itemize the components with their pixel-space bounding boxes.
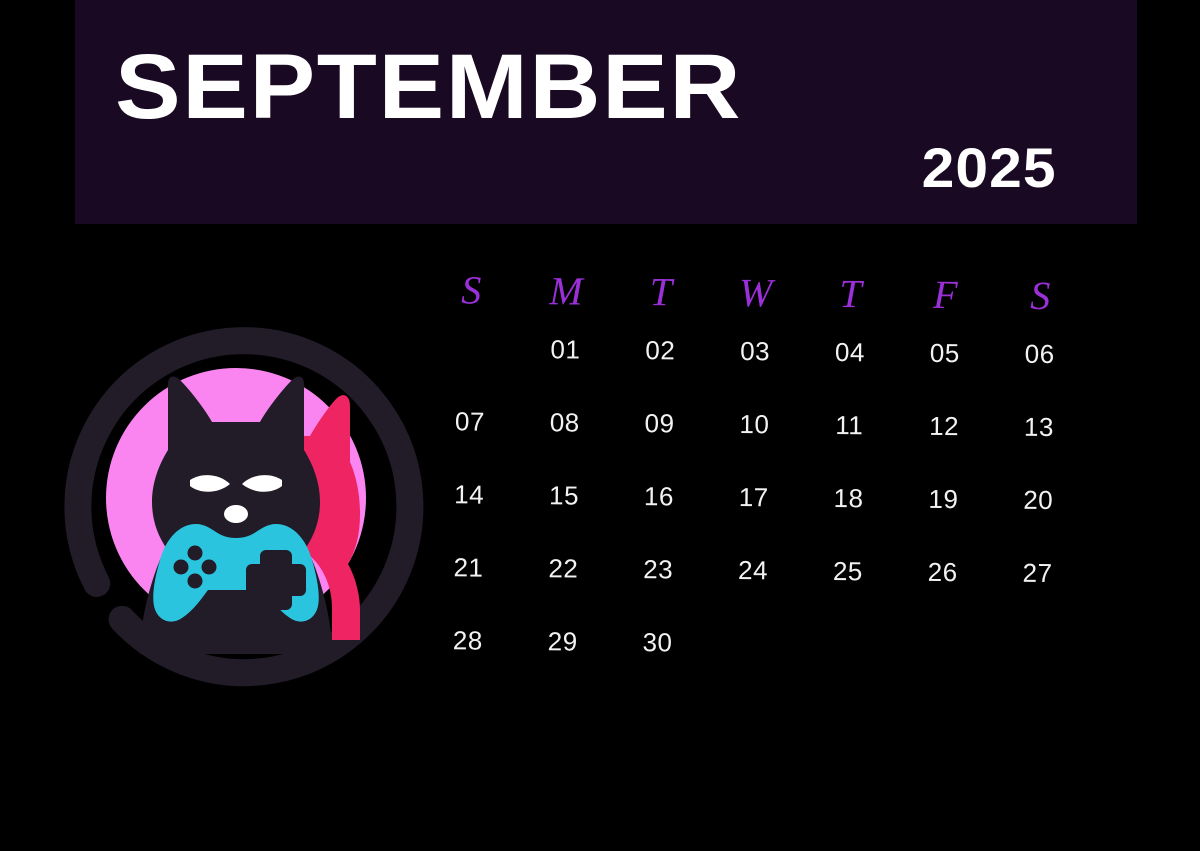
gamer-cat-illustration	[44, 302, 428, 694]
date-cell[interactable]: 26	[895, 552, 991, 626]
date-cell[interactable]	[989, 625, 1085, 699]
date-cell[interactable]: 08	[517, 402, 613, 476]
gamepad-dot-bottom	[188, 574, 203, 589]
date-cell[interactable]: 21	[421, 547, 517, 621]
date-cell[interactable]: 02	[612, 330, 708, 404]
weekday-monday: M	[518, 267, 613, 330]
date-cell[interactable]: 28	[420, 620, 516, 694]
date-cell[interactable]	[799, 624, 895, 698]
date-cell[interactable]: 05	[897, 333, 993, 407]
weekday-thursday: T	[803, 270, 898, 333]
month-title: SEPTEMBER	[115, 41, 742, 133]
date-cell[interactable]: 19	[895, 479, 991, 553]
weekday-header-row: S M T W T F S	[423, 266, 1088, 334]
date-cell[interactable]: 27	[990, 552, 1086, 626]
calendar-page: SEPTEMBER 2025	[0, 0, 1200, 851]
date-cell[interactable]	[894, 625, 990, 699]
date-cell[interactable]: 20	[990, 479, 1086, 553]
date-cell[interactable]: 24	[705, 550, 801, 624]
gamepad-dot-left	[174, 560, 189, 575]
date-cell[interactable]: 22	[515, 548, 611, 622]
week-row-4: 21 22 23 24 25 26 27	[421, 547, 1086, 626]
weekday-saturday: S	[992, 271, 1087, 334]
date-cell[interactable]	[704, 623, 800, 697]
weekday-tuesday: T	[613, 268, 708, 331]
date-cell[interactable]	[423, 328, 519, 402]
date-cell[interactable]: 13	[991, 406, 1087, 480]
weekday-sunday: S	[423, 266, 518, 329]
date-cell[interactable]: 15	[516, 475, 612, 549]
date-cell[interactable]: 03	[707, 331, 803, 405]
date-cell[interactable]: 23	[610, 549, 706, 623]
date-cell[interactable]: 04	[802, 332, 898, 406]
date-cell[interactable]: 17	[706, 477, 802, 551]
weekday-wednesday: W	[708, 269, 803, 332]
week-row-5: 28 29 30	[420, 620, 1085, 699]
weekday-friday: F	[898, 271, 993, 334]
week-row-2: 07 08 09 10 11 12 13	[422, 401, 1087, 480]
date-cell[interactable]: 18	[801, 478, 897, 552]
year-title: 2025	[922, 140, 1057, 196]
header-panel: SEPTEMBER 2025	[75, 0, 1137, 224]
week-row-3: 14 15 16 17 18 19 20	[421, 474, 1086, 553]
date-cell[interactable]: 14	[421, 474, 517, 548]
date-cell[interactable]: 10	[707, 404, 803, 478]
date-cell[interactable]: 16	[611, 476, 707, 550]
date-cell[interactable]: 06	[992, 333, 1088, 407]
date-cell[interactable]: 01	[518, 329, 614, 403]
date-cell[interactable]: 25	[800, 551, 896, 625]
date-cell[interactable]: 11	[801, 405, 897, 479]
calendar-grid: S M T W T F S 01 02 03 04 05 06 07 08 09…	[420, 266, 1088, 722]
gamepad-dot-top	[188, 546, 203, 561]
gamepad-dot-right	[202, 560, 217, 575]
date-cell[interactable]: 07	[422, 401, 518, 475]
date-cell[interactable]: 29	[515, 621, 611, 695]
date-cell[interactable]: 12	[896, 406, 992, 480]
week-row-1: 01 02 03 04 05 06	[423, 328, 1088, 407]
date-cell[interactable]: 09	[612, 403, 708, 477]
date-cell[interactable]: 30	[610, 622, 706, 696]
cat-nose	[224, 505, 248, 523]
